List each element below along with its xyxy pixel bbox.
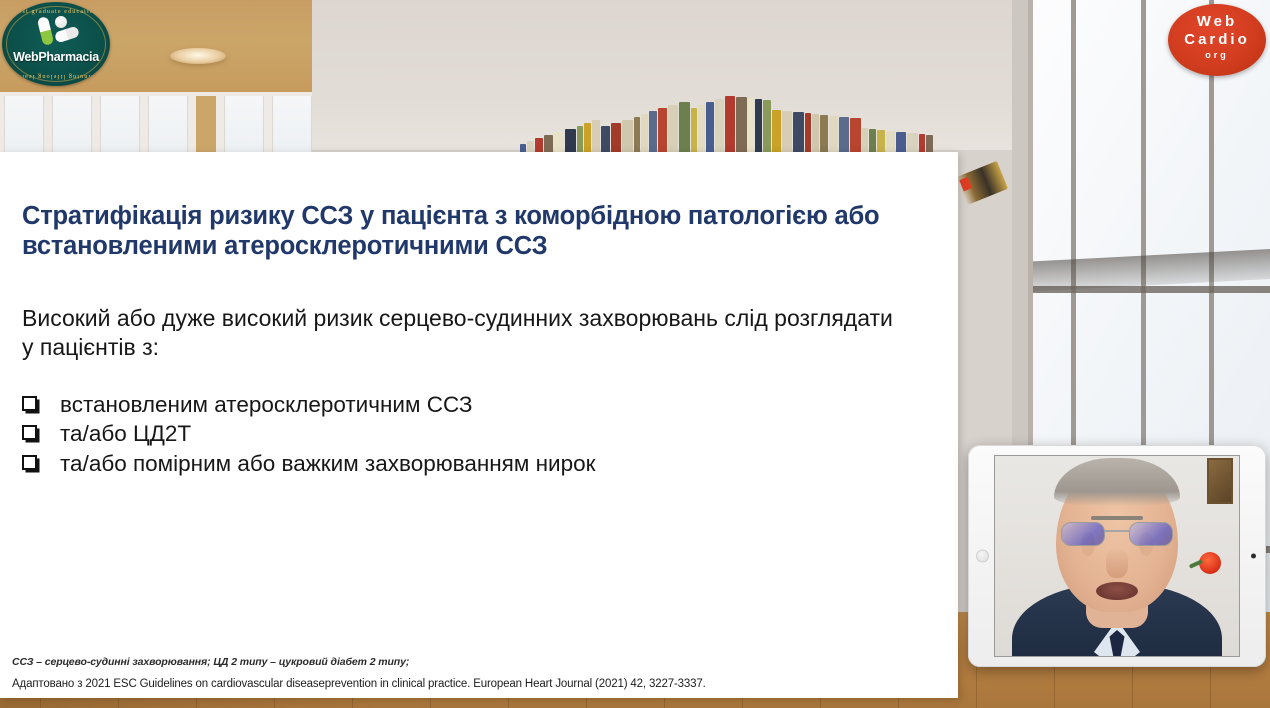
- glasses-icon: [1061, 522, 1173, 548]
- webpharmacia-logo-text: WebPharmacia: [2, 50, 110, 64]
- checkbox-square-icon: [22, 396, 60, 415]
- left-window-panes: [0, 92, 312, 154]
- camera-icon: [1251, 554, 1256, 559]
- bookshelf-books: [520, 92, 940, 154]
- logo-arc-top-text: Post graduate education: [2, 8, 110, 15]
- slide-footnotes: ССЗ – серцево-судинні захворювання; ЦД 2…: [12, 656, 932, 690]
- home-button-icon[interactable]: [976, 550, 989, 563]
- bullet-list: встановленим атеросклеротичним ССЗта/або…: [22, 390, 902, 478]
- list-item-label: та/або ЦД2Т: [60, 419, 191, 448]
- pills-icon: [38, 15, 80, 55]
- red-flower-decoration: [1199, 552, 1221, 574]
- list-item: встановленим атеросклеротичним ССЗ: [22, 390, 902, 419]
- presenter-hair: [1054, 458, 1180, 506]
- presenter-video-feed[interactable]: [994, 455, 1240, 657]
- footnote-abbreviations: ССЗ – серцево-судинні захворювання; ЦД 2…: [12, 656, 932, 668]
- webpharmacia-logo[interactable]: Post graduate education WebPharmacia Con…: [2, 2, 110, 86]
- webcardio-logo[interactable]: Web Cardio org: [1168, 4, 1266, 76]
- presentation-slide: Стратифікація ризику ССЗ у пацієнта з ко…: [0, 152, 958, 698]
- presenter-brow-right: [1109, 516, 1143, 520]
- tablet-device[interactable]: [968, 445, 1266, 667]
- screen-capture: Стратифікація ризику ССЗ у пацієнта з ко…: [0, 0, 1270, 708]
- ceiling-light-icon: [170, 48, 226, 64]
- webcardio-line2: Cardio: [1168, 31, 1266, 48]
- slide-title: Стратифікація ризику ССЗ у пацієнта з ко…: [22, 202, 922, 261]
- list-item-label: та/або помірним або важким захворюванням…: [60, 449, 595, 478]
- webcardio-line3: org: [1168, 50, 1266, 60]
- footnote-source: Адаптовано з 2021 ESC Guidelines on card…: [12, 678, 932, 690]
- slide-lead-paragraph: Високий або дуже високий ризик серцево-с…: [22, 304, 902, 362]
- list-item: та/або ЦД2Т: [22, 419, 902, 448]
- logo-arc-bottom-text: Continuing lifelong learning: [2, 73, 110, 80]
- checkbox-square-icon: [22, 425, 60, 444]
- background-picture-frame: [1207, 458, 1233, 504]
- checkbox-square-icon: [22, 455, 60, 474]
- wall-decoration: [956, 161, 1008, 205]
- webcardio-line1: Web: [1168, 13, 1266, 30]
- list-item-label: встановленим атеросклеротичним ССЗ: [60, 390, 473, 419]
- presenter-mouth: [1096, 582, 1138, 600]
- list-item: та/або помірним або важким захворюванням…: [22, 449, 902, 478]
- presenter-nose: [1106, 548, 1128, 578]
